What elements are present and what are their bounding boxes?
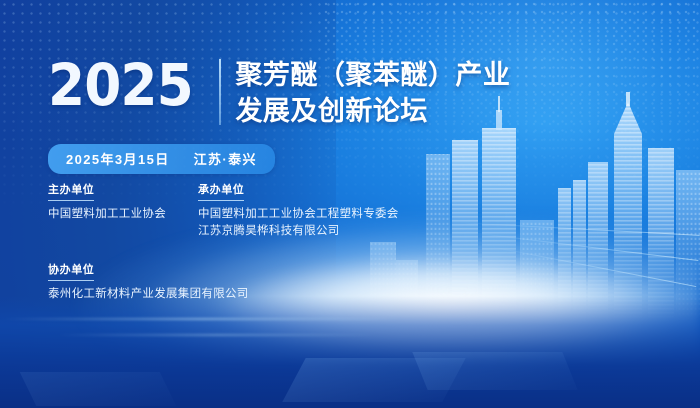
organizer-value: 江苏京腾昊桦科技有限公司: [198, 223, 399, 239]
organizer-label: 承办单位: [198, 181, 244, 201]
conference-banner: 2025 聚芳醚（聚苯醚）产业 发展及创新论坛 2025年3月15日 江苏·泰兴…: [0, 0, 700, 408]
organizer-label: 主办单位: [48, 181, 94, 201]
event-location: 江苏·泰兴: [194, 149, 257, 168]
organizer-host: 主办单位 中国塑料加工工业协会: [48, 180, 198, 239]
organizer-coordinator: 承办单位 中国塑料加工工业协会工程塑料专委会 江苏京腾昊桦科技有限公司: [198, 180, 399, 239]
organizer-value: 中国塑料加工工业协会工程塑料专委会: [198, 206, 399, 222]
organizer-row-primary: 主办单位 中国塑料加工工业协会 承办单位 中国塑料加工工业协会工程塑料专委会 江…: [48, 180, 428, 239]
headline: 2025 聚芳醚（聚苯醚）产业 发展及创新论坛: [48, 57, 510, 128]
title-block: 聚芳醚（聚苯醚）产业 发展及创新论坛: [235, 57, 510, 128]
title-line-2: 发展及创新论坛: [235, 94, 510, 128]
year-2025: 2025: [48, 57, 193, 113]
headline-divider: [219, 59, 221, 125]
organizer-value: 泰州化工新材料产业发展集团有限公司: [48, 286, 428, 302]
organizer-cohost: 协办单位 泰州化工新材料产业发展集团有限公司: [48, 260, 428, 302]
organizer-label: 协办单位: [48, 261, 94, 281]
organizers-block: 主办单位 中国塑料加工工业协会 承办单位 中国塑料加工工业协会工程塑料专委会 江…: [48, 180, 428, 302]
event-date: 2025年3月15日: [66, 149, 170, 168]
title-line-1: 聚芳醚（聚苯醚）产业: [235, 58, 510, 92]
organizer-value: 中国塑料加工工业协会: [48, 206, 198, 222]
date-location-pill: 2025年3月15日 江苏·泰兴: [48, 144, 275, 174]
